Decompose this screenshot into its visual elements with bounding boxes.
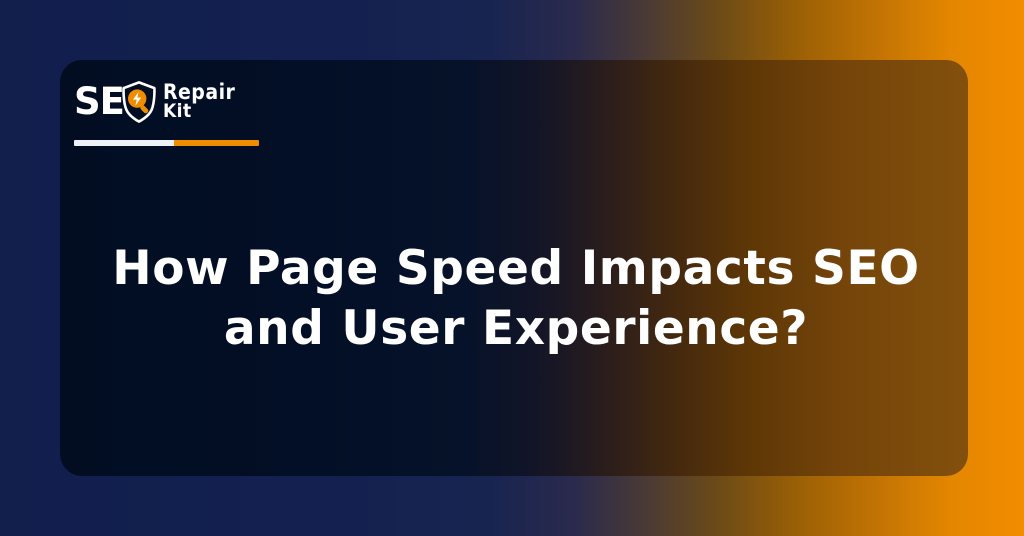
page-title-line-2: and User Experience?: [96, 299, 936, 359]
logo-bar-light-segment: [74, 140, 174, 146]
featured-image-canvas: SE Repair Kit How Page Sp: [0, 0, 1024, 536]
logo-wordmark: Repair Kit: [163, 82, 235, 121]
shield-magnifier-bolt-icon: [119, 80, 159, 124]
logo-bar-accent-segment: [174, 140, 259, 146]
page-title-line-1: How Page Speed Impacts SEO: [96, 239, 936, 299]
logo-word-kit: Kit: [163, 102, 235, 121]
site-logo[interactable]: SE Repair Kit: [74, 76, 274, 126]
content-card: SE Repair Kit How Page Sp: [60, 60, 968, 476]
logo-lockup: SE Repair Kit: [74, 76, 274, 126]
logo-underline-bar: [74, 140, 259, 146]
page-title: How Page Speed Impacts SEO and User Expe…: [96, 239, 936, 359]
logo-seo-text: SE: [74, 83, 124, 120]
logo-word-repair: Repair: [163, 82, 235, 102]
